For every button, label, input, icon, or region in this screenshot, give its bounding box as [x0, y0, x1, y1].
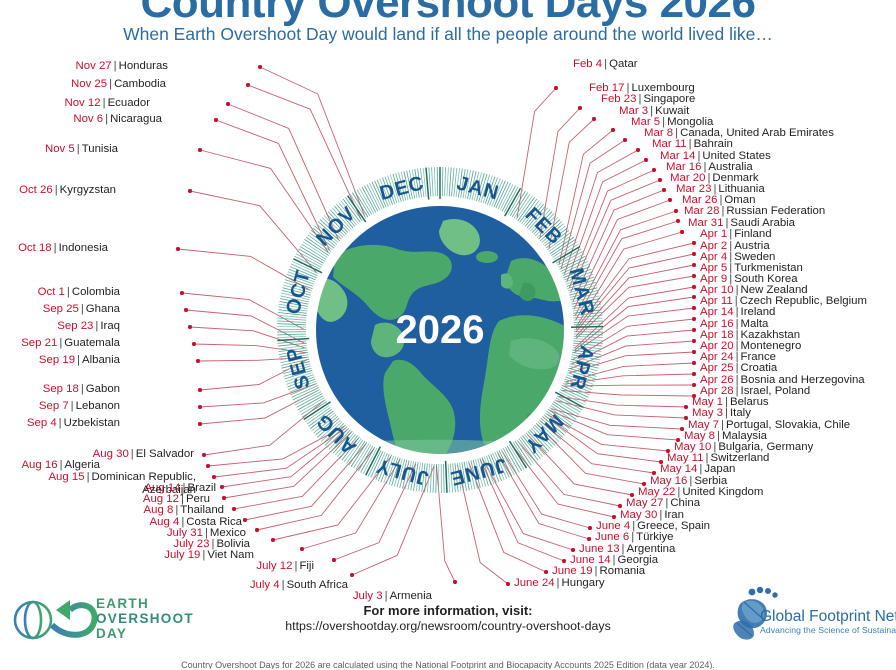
overshoot-date: June 24 — [514, 577, 555, 589]
country-label: Mar 28|Russian Federation — [684, 205, 825, 218]
separator: | — [69, 400, 76, 412]
country-label: Aug 8|Thailand — [0, 504, 224, 517]
separator: | — [75, 143, 82, 155]
label-anchor-dot — [258, 65, 261, 68]
country-label: Apr 14|Ireland — [700, 306, 775, 319]
label-anchor-dot — [692, 350, 695, 353]
separator: | — [79, 383, 86, 395]
country-names: Kyrgyzstan — [60, 184, 116, 196]
label-anchor-dot — [332, 558, 335, 561]
overshoot-date: July 23 — [173, 538, 209, 550]
label-anchor-dot — [692, 252, 695, 255]
overshoot-date: Sep 18 — [43, 383, 79, 395]
overshoot-date: July 12 — [256, 560, 292, 572]
eod-line-1: EARTH — [96, 596, 194, 611]
country-label: Oct 1|Colombia — [0, 286, 120, 299]
label-anchor-dot — [612, 515, 615, 518]
separator: | — [723, 407, 730, 419]
country-names: Cambodia — [114, 78, 166, 90]
country-label: Sep 23|Iraq — [0, 320, 120, 333]
label-anchor-dot — [255, 528, 258, 531]
country-label: June 24|Hungary — [514, 577, 605, 590]
country-label: Sep 18|Gabon — [0, 383, 120, 396]
overshoot-date: Nov 6 — [73, 113, 103, 125]
country-names: Bahrain — [694, 138, 733, 150]
country-names: Dominican Republic, — [92, 471, 196, 483]
separator: | — [555, 577, 562, 589]
label-anchor-dot — [350, 573, 353, 576]
overshoot-date: Oct 26 — [19, 184, 53, 196]
separator: | — [112, 60, 119, 72]
country-label: May 3|Italy — [692, 407, 751, 420]
label-anchor-dot — [668, 198, 671, 201]
country-names: El Salvador — [136, 448, 194, 460]
separator: | — [53, 184, 60, 196]
country-names: Guatemala — [64, 337, 120, 349]
country-label: Oct 26|Kyrgyzstan — [0, 184, 116, 197]
label-anchor-dot — [300, 547, 303, 550]
label-anchor-dot — [674, 209, 677, 212]
country-names: Albania — [82, 354, 120, 366]
country-names: Japan — [704, 463, 735, 475]
country-label: May 14|Japan — [660, 463, 735, 476]
overshoot-date: Nov 12 — [65, 97, 101, 109]
country-label: Apr 25|Croatia — [700, 362, 777, 375]
country-label: Sep 7|Lebanon — [0, 400, 120, 413]
country-names: Finland — [734, 228, 771, 240]
label-anchor-dot — [188, 325, 191, 328]
label-anchor-dot — [184, 308, 187, 311]
country-names: Singapore — [643, 93, 695, 105]
country-names: Viet Nam — [207, 549, 254, 561]
country-names: Croatia — [741, 362, 778, 374]
gfn-wordmark: Global Footprint Network Advancing the S… — [760, 608, 896, 636]
overshoot-date: Feb 23 — [601, 93, 636, 105]
country-label: Aug 16|Algeria — [0, 459, 100, 472]
gfn-tagline: Advancing the Science of Sustainability — [760, 626, 896, 636]
eod-line-3: DAY — [96, 626, 194, 641]
country-label: Apr 1|Finland — [700, 228, 772, 241]
label-anchor-dot — [680, 230, 683, 233]
overshoot-date: Sep 7 — [39, 400, 69, 412]
country-label: Feb 4|Qatar — [573, 58, 638, 71]
label-anchor-dot — [644, 158, 647, 161]
label-anchor-dot — [662, 188, 665, 191]
overshoot-date: Apr 1 — [700, 228, 727, 240]
overshoot-date: Aug 30 — [93, 448, 129, 460]
country-label: Sep 4|Uzbekistan — [0, 417, 120, 430]
overshoot-date: Aug 16 — [21, 459, 57, 471]
footer-fineprint: Country Overshoot Days for 2026 are calc… — [0, 660, 896, 669]
label-anchor-dot — [692, 372, 695, 375]
country-label: Nov 5|Tunisia — [0, 143, 118, 156]
country-label: July 12|Fiji — [0, 560, 314, 573]
country-names: Qatar — [609, 58, 638, 70]
country-names: Costa Rica — [186, 516, 242, 528]
label-anchor-dot — [636, 148, 639, 151]
overshoot-date: Sep 23 — [57, 320, 93, 332]
overshoot-date: June 6 — [595, 531, 629, 543]
label-anchor-dot — [588, 526, 591, 529]
label-anchor-dot — [692, 317, 695, 320]
label-anchor-dot — [506, 582, 509, 585]
country-label: Nov 25|Cambodia — [0, 78, 166, 91]
label-anchor-dot — [676, 219, 679, 222]
country-label: Aug 30|El Salvador — [0, 448, 194, 461]
label-anchor-dot — [587, 537, 590, 540]
overshoot-date: Feb 4 — [573, 58, 602, 70]
page-subtitle: When Earth Overshoot Day would land if a… — [0, 24, 896, 45]
country-names: Tunisia — [82, 143, 118, 155]
country-names: Gabon — [86, 383, 120, 395]
country-label: Sep 19|Albania — [0, 354, 120, 367]
label-anchor-dot — [226, 102, 229, 105]
country-label: Nov 27|Honduras — [0, 60, 168, 73]
country-names: Fiji — [299, 560, 314, 572]
label-anchor-dot — [623, 138, 626, 141]
label-anchor-dot — [692, 339, 695, 342]
label-anchor-dot — [592, 117, 595, 120]
country-label: Sep 21|Guatemala — [0, 337, 120, 350]
country-label: July 4|South Africa — [0, 579, 348, 592]
label-anchor-dot — [692, 274, 695, 277]
label-anchor-dot — [246, 83, 249, 86]
label-anchor-dot — [176, 247, 179, 250]
label-anchor-dot — [611, 128, 614, 131]
overshoot-date: Aug 4 — [150, 516, 180, 528]
label-anchor-dot — [271, 538, 274, 541]
separator: | — [58, 459, 65, 471]
separator: | — [593, 565, 600, 577]
overshoot-date: Sep 21 — [21, 337, 57, 349]
overshoot-date: Oct 1 — [38, 286, 65, 298]
separator: | — [79, 303, 86, 315]
separator: | — [203, 527, 210, 539]
label-anchor-dot — [692, 295, 695, 298]
label-anchor-dot — [658, 178, 661, 181]
label-anchor-dot — [198, 405, 201, 408]
overshoot-date: Mar 28 — [684, 205, 719, 217]
label-anchor-dot — [198, 422, 201, 425]
label-anchor-dot — [232, 507, 235, 510]
country-names: Mexico — [210, 527, 246, 539]
country-names: South Africa — [287, 579, 348, 591]
gfn-name: Global Footprint Network — [760, 608, 896, 626]
label-anchor-dot — [554, 86, 557, 89]
overshoot-date: Nov 25 — [71, 78, 107, 90]
country-names: Hungary — [562, 577, 605, 589]
country-label: June 19|Romania — [552, 565, 645, 578]
year-label: 2026 — [275, 165, 605, 495]
separator: | — [65, 286, 72, 298]
country-label: Mar 11|Bahrain — [652, 138, 733, 151]
label-anchor-dot — [544, 570, 547, 573]
separator: | — [734, 362, 741, 374]
country-names: Italy — [730, 407, 751, 419]
label-anchor-dot — [222, 496, 225, 499]
label-anchor-dot — [202, 453, 205, 456]
overshoot-date: Nov 5 — [45, 143, 75, 155]
label-anchor-dot — [692, 383, 695, 386]
country-names: Nicaragua — [110, 113, 162, 125]
country-names: Ecuador — [108, 97, 150, 109]
label-anchor-dot — [188, 189, 191, 192]
overshoot-date: Sep 19 — [39, 354, 75, 366]
label-anchor-dot — [692, 263, 695, 266]
country-names: Lebanon — [76, 400, 120, 412]
globe-icon — [15, 602, 51, 638]
separator: | — [129, 448, 136, 460]
country-names: Ghana — [86, 303, 120, 315]
separator: | — [280, 579, 287, 591]
country-label: July 19|Viet Nam — [0, 549, 254, 562]
eod-line-2: OVERSHOOT — [96, 611, 194, 626]
overshoot-date: May 3 — [692, 407, 723, 419]
separator: | — [57, 417, 64, 429]
country-names: Ireland — [741, 306, 776, 318]
overshoot-date: Apr 25 — [700, 362, 734, 374]
label-anchor-dot — [220, 485, 223, 488]
label-anchor-dot — [684, 405, 687, 408]
country-label: May 27|China — [626, 497, 700, 510]
overshoot-date: July 19 — [164, 549, 200, 561]
overshoot-date: Mar 11 — [652, 138, 687, 150]
label-anchor-dot — [453, 580, 456, 583]
earth-overshoot-day-wordmark: EARTH OVERSHOOT DAY — [96, 596, 194, 641]
label-anchor-dot — [206, 464, 209, 467]
country-names: Türkiye — [636, 531, 673, 543]
separator: | — [75, 354, 82, 366]
country-label: June 6|Türkiye — [595, 531, 674, 544]
country-label: July 31|Mexico — [0, 527, 246, 540]
overshoot-date: Nov 27 — [76, 60, 112, 72]
label-anchor-dot — [562, 559, 565, 562]
overshoot-date: July 31 — [167, 527, 203, 539]
arrow-head-icon — [56, 600, 70, 620]
country-names: Armenia — [390, 590, 432, 602]
label-anchor-dot — [212, 475, 215, 478]
overshoot-date: Aug 8 — [144, 504, 174, 516]
label-anchor-dot — [198, 388, 201, 391]
country-label: Feb 23|Singapore — [601, 93, 695, 106]
infographic-canvas: Country Overshoot Days 2026 When Earth O… — [0, 0, 896, 670]
country-label: Oct 18|Indonesia — [0, 242, 108, 255]
overshoot-date: May 14 — [660, 463, 697, 475]
label-anchor-dot — [198, 148, 201, 151]
separator: | — [52, 242, 59, 254]
overshoot-date: June 19 — [552, 565, 593, 577]
label-anchor-dot — [692, 361, 695, 364]
country-label: Aug 15|Dominican Republic,Azerbaijan — [0, 471, 196, 497]
label-anchor-dot — [692, 241, 695, 244]
label-anchor-dot — [692, 306, 695, 309]
country-names: Colombia — [72, 286, 120, 298]
label-anchor-dot — [243, 518, 246, 521]
country-names: Uzbekistan — [64, 417, 120, 429]
country-label: Aug 4|Costa Rica — [0, 516, 242, 529]
label-anchor-dot — [692, 285, 695, 288]
country-names: Bolivia — [216, 538, 250, 550]
country-label: July 23|Bolivia — [0, 538, 250, 551]
country-names-cont: Azerbaijan — [0, 484, 196, 497]
label-anchor-dot — [652, 168, 655, 171]
globe-calendar: 2026 JANFEBMARAPRMAYJUNEJULYAUGSEPOCTNOV… — [275, 165, 605, 495]
country-label: Nov 12|Ecuador — [0, 97, 150, 110]
country-names: Indonesia — [59, 242, 108, 254]
overshoot-date: Aug 15 — [48, 471, 84, 483]
separator: | — [101, 97, 108, 109]
overshoot-date: May 27 — [626, 497, 663, 509]
overshoot-date: Sep 25 — [43, 303, 79, 315]
separator: | — [383, 590, 390, 602]
country-names: China — [670, 497, 700, 509]
overshoot-date: Apr 14 — [700, 306, 734, 318]
label-anchor-dot — [180, 291, 183, 294]
country-names: Honduras — [119, 60, 168, 72]
label-anchor-dot — [571, 548, 574, 551]
label-anchor-dot — [578, 106, 581, 109]
country-names: Romania — [600, 565, 646, 577]
label-anchor-dot — [618, 504, 621, 507]
label-anchor-dot — [196, 359, 199, 362]
overshoot-date: Oct 18 — [18, 242, 52, 254]
separator: | — [687, 138, 694, 150]
country-names: Algeria — [65, 459, 100, 471]
separator: | — [734, 306, 741, 318]
country-label: Nov 6|Nicaragua — [0, 113, 162, 126]
country-label: Sep 25|Ghana — [0, 303, 120, 316]
label-anchor-dot — [214, 118, 217, 121]
overshoot-date: Sep 4 — [27, 417, 57, 429]
label-anchor-dot — [692, 328, 695, 331]
separator: | — [85, 471, 92, 483]
label-anchor-dot — [192, 342, 195, 345]
overshoot-date: July 4 — [250, 579, 280, 591]
overshoot-date: July 3 — [353, 590, 383, 602]
country-names: Iraq — [100, 320, 120, 332]
country-names: Russian Federation — [726, 205, 825, 217]
country-names: Thailand — [180, 504, 224, 516]
